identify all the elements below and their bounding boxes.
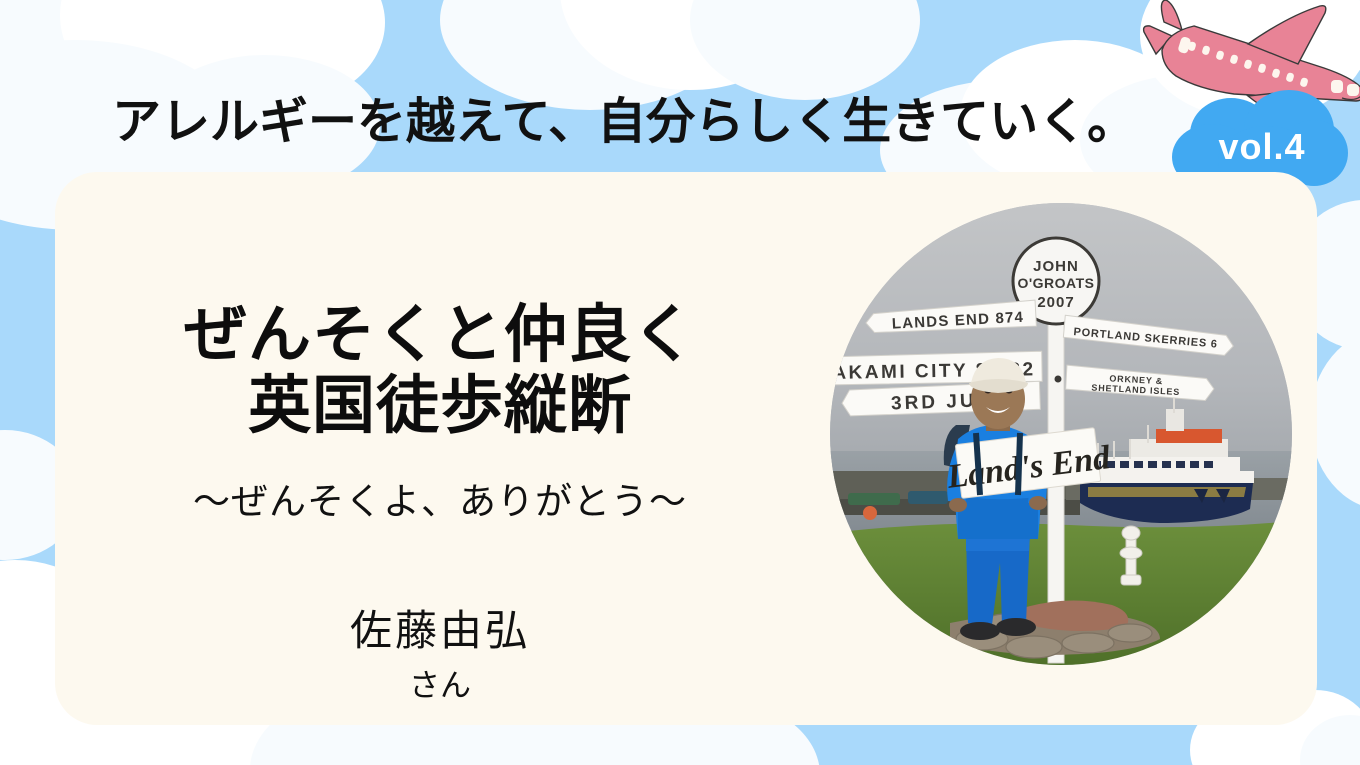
article-text-block: ぜんそくと仲良く 英国徒歩縦断 〜ぜんそくよ、ありがとう〜 佐藤由弘 さん (90, 195, 790, 705)
article-subtitle: 〜ぜんそくよ、ありがとう〜 (90, 471, 790, 525)
article-title: ぜんそくと仲良く 英国徒歩縦断 (90, 300, 790, 441)
article-title-line2: 英国徒歩縦断 (90, 371, 790, 442)
svg-text:2007: 2007 (1037, 294, 1074, 311)
article-title-line1: ぜんそくと仲良く (184, 300, 696, 370)
person-name: 佐藤由弘 (90, 597, 790, 658)
svg-text:O'GROATS: O'GROATS (1017, 275, 1094, 291)
page-title: アレルギーを越えて、自分らしく生きていく。 (112, 82, 1136, 153)
article-photo: JOHN O'GROATS 2007 LANDS END 874 PORTLAN… (830, 203, 1292, 665)
person-name-suffix: さん (90, 660, 790, 705)
poster-canvas: アレルギーを越えて、自分らしく生きていく。 vol.4 ぜんそくと仲良く 英国徒… (0, 0, 1360, 765)
svg-text:JOHN: JOHN (1033, 258, 1079, 275)
